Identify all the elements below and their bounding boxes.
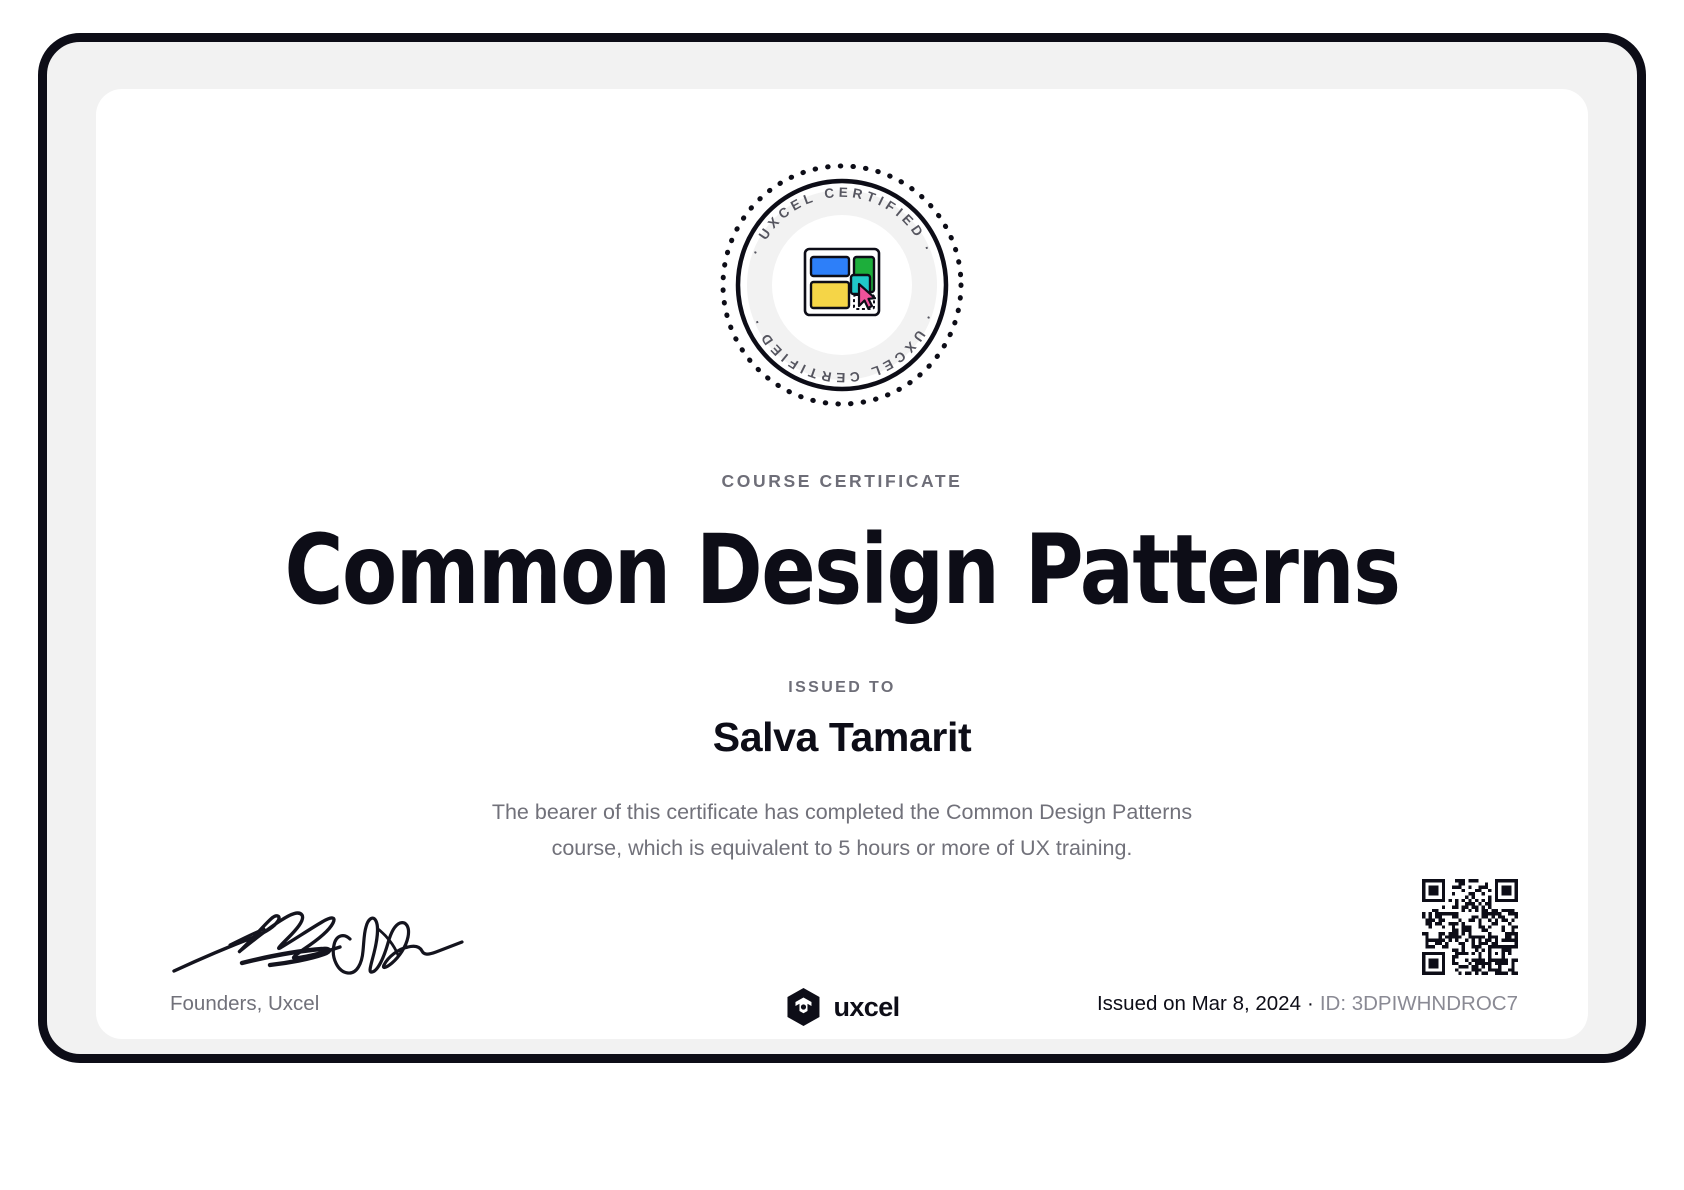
certificate-frame: · UXCEL CERTIFIED · · UXCEL CERTIFIED ·: [38, 33, 1646, 1063]
uxcel-certified-seal: · UXCEL CERTIFIED · · UXCEL CERTIFIED ·: [714, 157, 970, 413]
signature-two: [333, 918, 462, 973]
issued-on-text: Issued on Mar 8, 2024: [1097, 992, 1301, 1015]
recipient-name: Salva Tamarit: [96, 714, 1588, 761]
signature-one: [174, 913, 340, 971]
certificate-description: The bearer of this certificate has compl…: [462, 794, 1222, 866]
verification-qr-code[interactable]: [1422, 879, 1518, 975]
uxcel-cube-logo: [784, 987, 822, 1027]
meta-separator: ·: [1301, 992, 1320, 1015]
founders-label: Founders, Uxcel: [170, 992, 319, 1016]
course-certificate-label: COURSE CERTIFICATE: [96, 471, 1588, 492]
certificate-card: · UXCEL CERTIFIED · · UXCEL CERTIFIED ·: [96, 89, 1588, 1039]
issue-meta: Issued on Mar 8, 2024·ID: 3DPIWHNDROC7: [1097, 992, 1518, 1016]
page-title: Common Design Patterns: [148, 514, 1536, 626]
certificate-id: ID: 3DPIWHNDROC7: [1320, 992, 1518, 1015]
issued-to-label: ISSUED TO: [96, 679, 1588, 697]
uxcel-wordmark: uxcel: [833, 992, 899, 1023]
founder-signatures: [170, 889, 470, 979]
ui-layout-cursor-icon: [805, 249, 879, 315]
uxcel-brand: uxcel: [784, 987, 899, 1027]
